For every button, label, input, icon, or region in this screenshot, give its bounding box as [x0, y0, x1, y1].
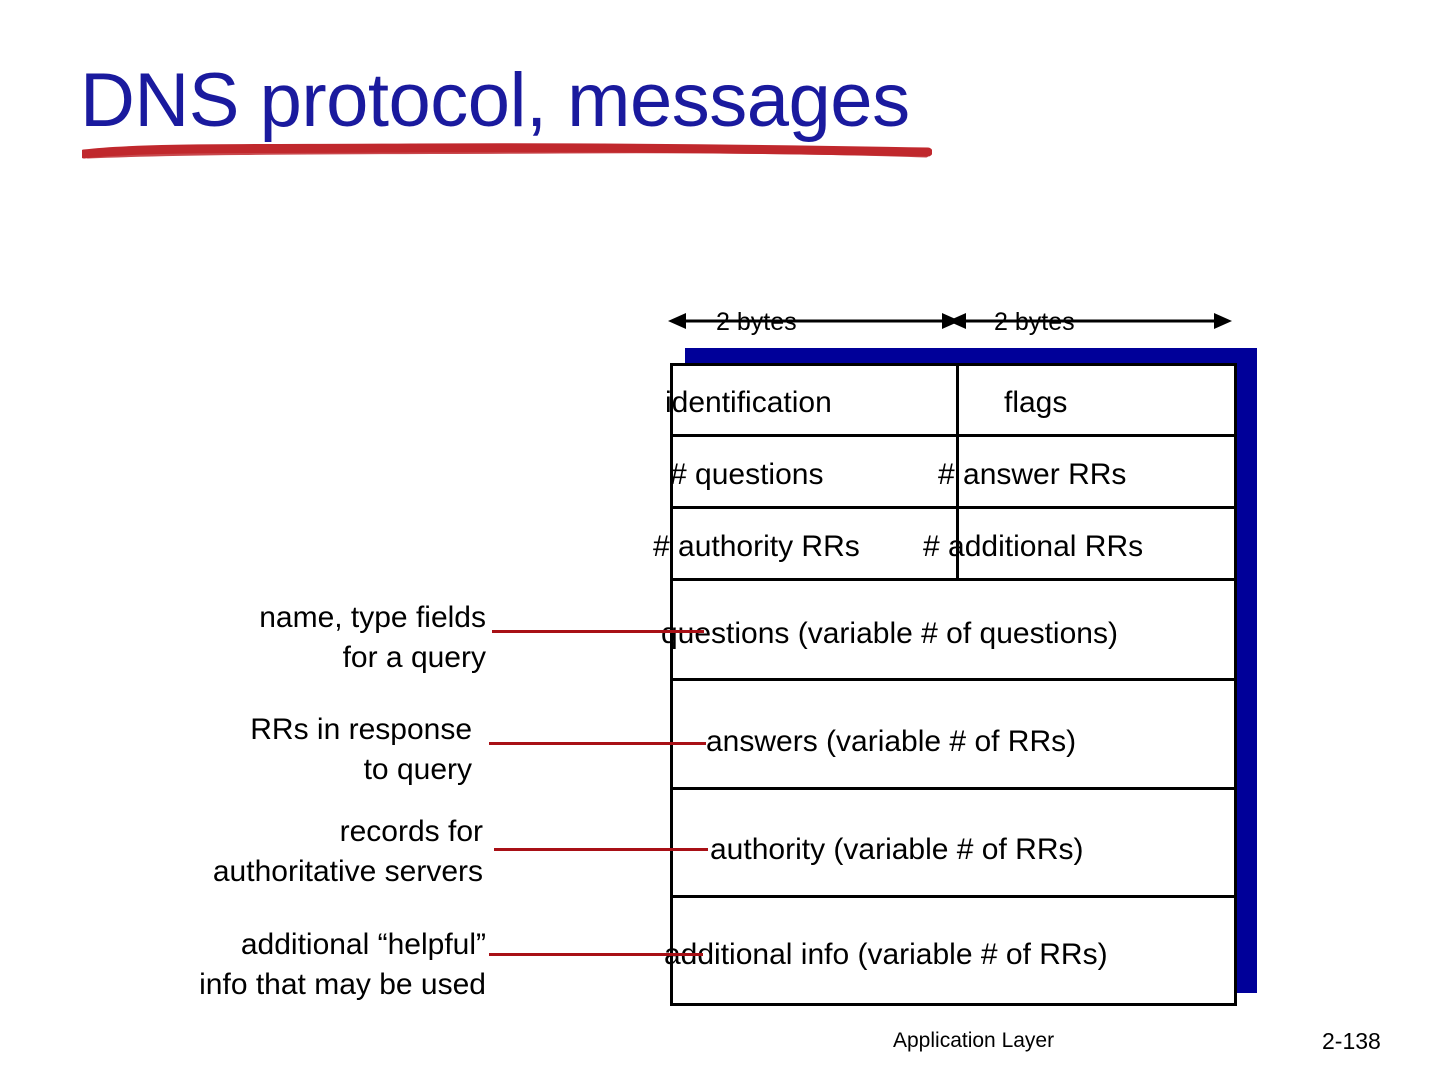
annotation-name-type-fields: name, type fields for a query [86, 598, 486, 678]
leader-line-answers [489, 742, 706, 745]
byte-ruler-label-right: 2 bytes [994, 308, 1075, 336]
cell-questions-section: questions (variable # of questions) [661, 617, 1118, 651]
leader-line-authority [494, 848, 708, 851]
footer-slide-number: 2-138 [1322, 1028, 1381, 1054]
leader-line-questions [492, 630, 704, 633]
annotation-line-1: records for [86, 812, 483, 852]
cell-identification: identification [665, 386, 832, 420]
annotation-line-1: name, type fields [86, 598, 486, 638]
annotation-records-for-authoritative-servers: records for authoritative servers [86, 812, 483, 892]
annotation-line-1: additional “helpful” [86, 925, 486, 965]
cell-num-authority-rrs: # authority RRs [653, 530, 860, 564]
page-title: DNS protocol, messages [80, 58, 910, 144]
byte-ruler-arrow-right [948, 300, 1232, 344]
cell-authority-section: authority (variable # of RRs) [710, 833, 1083, 867]
annotation-line-2: for a query [86, 638, 486, 678]
byte-ruler-label-left: 2 bytes [716, 308, 797, 336]
title-underline-brushstroke [82, 140, 932, 162]
cell-num-additional-rrs: # additional RRs [923, 530, 1143, 564]
cell-flags: flags [1004, 386, 1067, 420]
leader-line-additional [489, 953, 703, 956]
annotation-line-2: to query [86, 750, 472, 790]
footer-chapter-label: Application Layer [893, 1028, 1054, 1054]
cell-additional-section: additional info (variable # of RRs) [664, 938, 1108, 972]
annotation-line-2: authoritative servers [86, 852, 483, 892]
annotation-line-1: RRs in response [86, 710, 472, 750]
cell-answers-section: answers (variable # of RRs) [706, 725, 1076, 759]
cell-num-questions: # questions [670, 458, 823, 492]
annotation-line-2: info that may be used [86, 965, 486, 1005]
byte-ruler-arrow-left [668, 300, 960, 344]
annotation-additional-helpful-info: additional “helpful” info that may be us… [86, 925, 486, 1005]
annotation-rrs-in-response: RRs in response to query [86, 710, 472, 790]
cell-num-answer-rrs: # answer RRs [938, 458, 1126, 492]
